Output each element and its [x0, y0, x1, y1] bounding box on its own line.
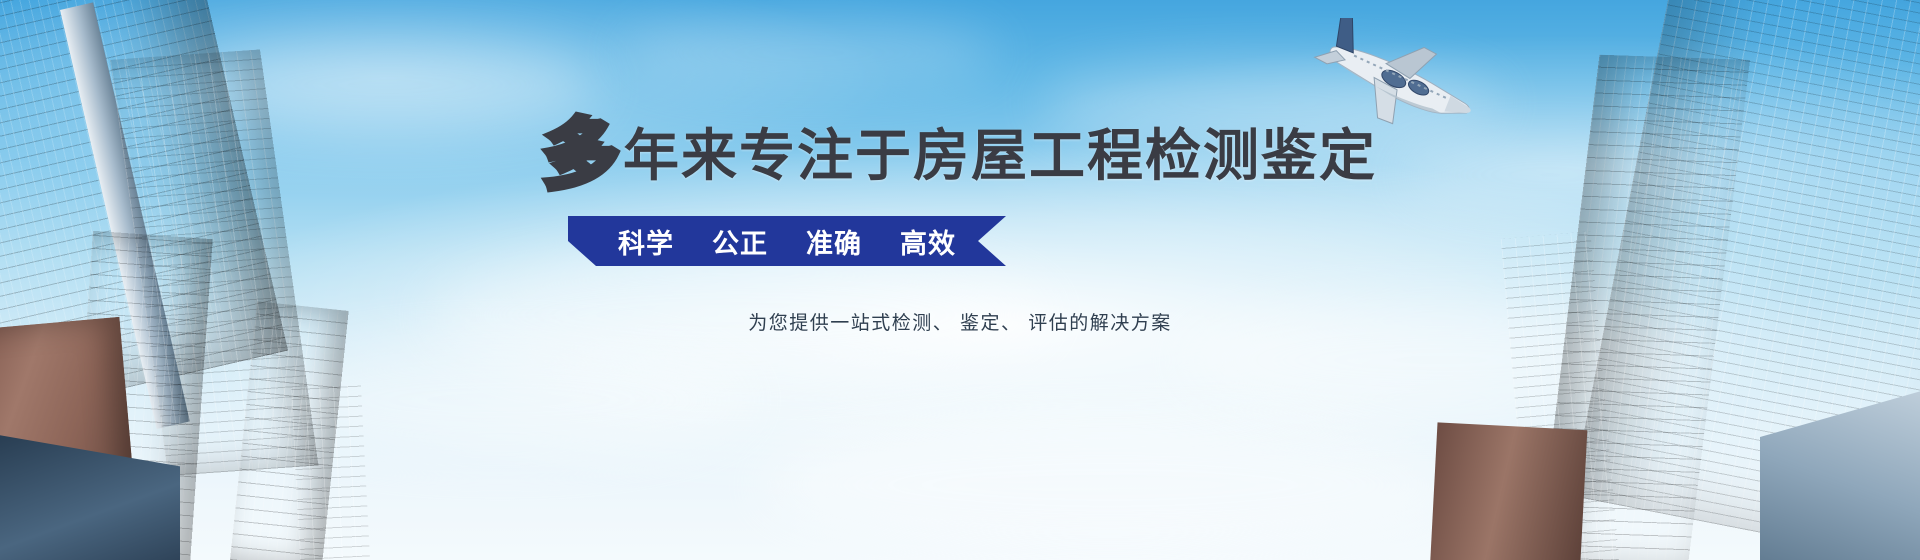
building-brick-lowrise — [0, 317, 139, 560]
building-slim-tower — [230, 301, 349, 560]
headline-rest-text: 年来专注于房屋工程检测鉴定 — [623, 128, 1377, 184]
ribbon-keyword-4: 高效 — [900, 222, 956, 261]
cloud-wisp — [620, 18, 1000, 88]
building-edge-highlight — [60, 2, 190, 429]
ribbon-keyword-3: 准确 — [806, 222, 862, 261]
ribbon-keyword-2: 公正 — [712, 222, 768, 261]
building-foreground-wedge — [0, 430, 180, 560]
hero-banner: 多 年来专注于房屋工程检测鉴定 科学 公正 准确 高效 为您提供一站式检测、 鉴… — [0, 0, 1920, 560]
building-dark-slab — [70, 231, 213, 560]
page-title: 多 年来专注于房屋工程检测鉴定 — [0, 112, 1920, 188]
keyword-ribbon-labels: 科学 公正 准确 高效 — [568, 216, 1006, 266]
cloud-wisp — [250, 340, 750, 460]
building-right-main — [1572, 0, 1920, 559]
headline-lead-character: 多 — [543, 118, 619, 194]
cloud-wisp — [760, 420, 1460, 550]
page-subtitle: 为您提供一站式检测、 鉴定、 评估的解决方案 — [0, 308, 1920, 335]
building-glass-tall — [0, 0, 288, 418]
building-right-lowrise — [1430, 422, 1587, 560]
building-right-foreground — [1760, 380, 1920, 560]
building-distant-block — [291, 385, 370, 560]
ribbon-keyword-1: 科学 — [618, 222, 674, 261]
building-right-sliver — [1501, 231, 1620, 560]
